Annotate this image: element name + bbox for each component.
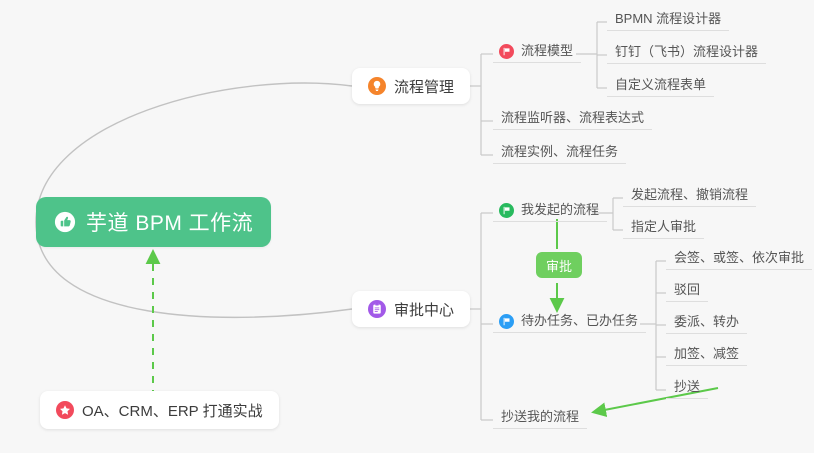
lightbulb-icon [368, 77, 386, 95]
branch-node-process-management[interactable]: 流程管理 [352, 68, 470, 104]
node-label-reject: 驳回 [674, 279, 700, 298]
node-start-cancel-process[interactable]: 发起流程、撤销流程 [623, 185, 756, 207]
arrow-label-approval: 审批 [536, 252, 582, 278]
node-process-listener-expression[interactable]: 流程监听器、流程表达式 [493, 108, 652, 130]
node-label-assignee-approval: 指定人审批 [631, 216, 696, 235]
node-label-todo-done-tasks: 待办任务、已办任务 [521, 310, 638, 329]
node-process-model[interactable]: 流程模型 [493, 41, 581, 63]
node-countersign-orsign-sequential[interactable]: 会签、或签、依次审批 [666, 248, 812, 270]
node-label-start-cancel-process: 发起流程、撤销流程 [631, 184, 748, 203]
node-label-add-remove-sign: 加签、减签 [674, 343, 739, 362]
node-add-remove-sign[interactable]: 加签、减签 [666, 344, 747, 366]
node-label-process-listener-expression: 流程监听器、流程表达式 [501, 107, 644, 126]
node-label-process-instance-task: 流程实例、流程任务 [501, 141, 618, 160]
node-reject[interactable]: 驳回 [666, 280, 708, 302]
node-process-instance-task[interactable]: 流程实例、流程任务 [493, 142, 626, 164]
node-todo-done-tasks[interactable]: 待办任务、已办任务 [493, 311, 646, 333]
node-cc-to-me-process[interactable]: 抄送我的流程 [493, 407, 587, 429]
root-node[interactable]: 芋道 BPM 工作流 [36, 197, 271, 247]
flag-icon [499, 203, 514, 218]
node-dingtalk-feishu-designer[interactable]: 钉钉（飞书）流程设计器 [607, 42, 766, 64]
branch-node-approval-center[interactable]: 审批中心 [352, 291, 470, 327]
node-label-carbon-copy: 抄送 [674, 376, 700, 395]
node-label-process-model: 流程模型 [521, 40, 573, 59]
node-label-delegate-transfer: 委派、转办 [674, 311, 739, 330]
thumbs-up-icon [54, 211, 76, 233]
node-label-custom-process-form: 自定义流程表单 [615, 74, 706, 93]
branch-label-approval-center: 审批中心 [394, 299, 454, 320]
node-label-cc-to-me-process: 抄送我的流程 [501, 406, 579, 425]
callout-node-label: OA、CRM、ERP 打通实战 [82, 400, 263, 421]
node-bpmn-designer[interactable]: BPMN 流程设计器 [607, 9, 729, 31]
branch-label-process-management: 流程管理 [394, 76, 454, 97]
node-label-dingtalk-feishu-designer: 钉钉（飞书）流程设计器 [615, 41, 758, 60]
star-icon [56, 401, 74, 419]
callout-node-integration[interactable]: OA、CRM、ERP 打通实战 [40, 391, 279, 429]
node-custom-process-form[interactable]: 自定义流程表单 [607, 75, 714, 97]
mindmap-canvas: 芋道 BPM 工作流 流程管理 流程模型 BPMN 流程设计器 钉钉（飞书）流程 [0, 0, 814, 453]
node-label-countersign-orsign-sequential: 会签、或签、依次审批 [674, 247, 804, 266]
clipboard-icon [368, 300, 386, 318]
node-delegate-transfer[interactable]: 委派、转办 [666, 312, 747, 334]
node-label-bpmn-designer: BPMN 流程设计器 [615, 8, 721, 27]
arrow-label-approval-text: 审批 [546, 256, 572, 275]
node-carbon-copy[interactable]: 抄送 [666, 377, 708, 399]
node-label-my-initiated-process: 我发起的流程 [521, 199, 599, 218]
node-assignee-approval[interactable]: 指定人审批 [623, 217, 704, 239]
flag-icon [499, 314, 514, 329]
flag-icon [499, 44, 514, 59]
root-node-label: 芋道 BPM 工作流 [86, 207, 253, 237]
node-my-initiated-process[interactable]: 我发起的流程 [493, 200, 607, 222]
